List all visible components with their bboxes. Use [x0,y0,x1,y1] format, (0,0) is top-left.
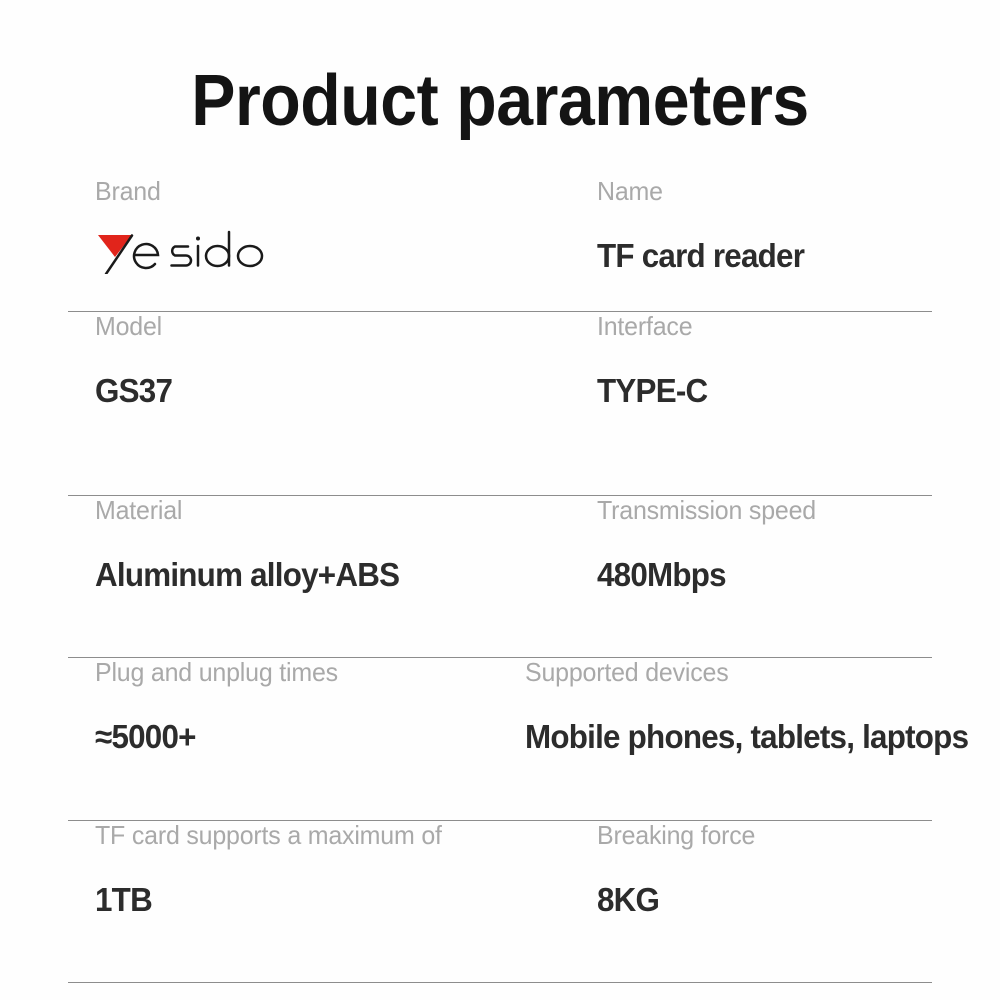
product-parameters-page: Product parameters Brand [0,0,1000,1000]
spec-cell-model: Model GS37 [95,311,176,410]
spec-value: Aluminum alloy+ABS [95,556,399,594]
page-title: Product parameters [40,58,960,144]
spec-row: Material Aluminum alloy+ABS Transmission… [0,495,1000,657]
spec-label: Interface [597,311,709,341]
spec-value: Mobile phones, tablets, laptops [525,718,968,756]
yesido-logo [95,226,265,274]
spec-value: 480Mbps [597,556,814,594]
spec-label: Plug and unplug times [95,657,338,687]
spec-value: TF card reader [597,237,804,275]
spec-cell-transmission-speed: Transmission speed 480Mbps [597,495,825,594]
spec-cell-supported-devices: Supported devices Mobile phones, tablets… [525,657,992,756]
spec-table: Brand [0,176,1000,982]
spec-cell-brand: Brand [95,176,265,274]
spec-value: GS37 [95,372,172,410]
spec-cell-name: Name TF card reader [597,176,815,275]
spec-label: Brand [95,176,258,206]
spec-row: Brand [0,176,1000,311]
spec-cell-tf-card-max: TF card supports a maximum of 1TB [95,820,456,919]
spec-row: Plug and unplug times ≈5000+ Supported d… [0,657,1000,820]
spec-value: 8KG [597,881,754,919]
row-divider [68,820,932,821]
spec-value: ≈5000+ [95,718,335,756]
spec-row: Model GS37 Interface TYPE-C [0,311,1000,495]
spec-value: TYPE-C [597,372,707,410]
spec-cell-plug-unplug-times: Plug and unplug times ≈5000+ [95,657,348,756]
row-divider [68,495,932,496]
spec-row: TF card supports a maximum of 1TB Breaki… [0,820,1000,982]
spec-cell-material: Material Aluminum alloy+ABS [95,495,415,594]
spec-cell-interface: Interface TYPE-C [597,311,713,410]
spec-label: Breaking force [597,820,755,850]
spec-value: 1TB [95,881,438,919]
spec-cell-breaking-force: Breaking force 8KG [597,820,762,919]
row-divider [68,657,932,658]
spec-label: Supported devices [525,657,973,687]
spec-label: Transmission speed [597,495,816,525]
spec-label: Name [597,176,806,206]
spec-label: Model [95,311,173,341]
row-divider [68,982,932,983]
spec-label: TF card supports a maximum of [95,820,442,850]
row-divider [68,311,932,312]
logo-triangle-icon [98,235,132,257]
spec-label: Material [95,495,402,525]
